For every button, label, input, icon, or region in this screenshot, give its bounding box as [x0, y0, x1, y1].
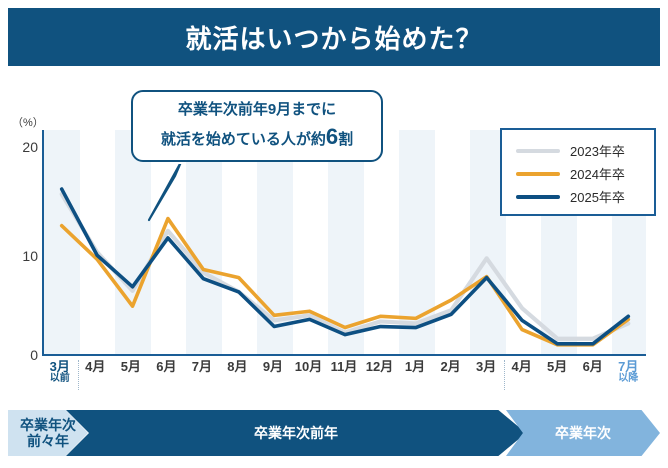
x-axis-tick-16: 7月以降 [608, 360, 648, 384]
x-axis-labels: 3月以前4月5月6月7月8月9月10月11月12月1月2月3月4月5月6月7月以… [0, 360, 668, 400]
chart-page: 就活はいつから始めた？ （%） 20 10 0 3月以前4月5月6月7月8月9月… [0, 0, 668, 468]
phase-bands: 卒業年次 前々年 卒業年次前年 卒業年次 [8, 410, 660, 456]
callout-tail-icon [145, 160, 187, 222]
phase-separator [78, 360, 79, 390]
phase-band-a-line1: 卒業年次 [20, 417, 76, 433]
legend-item-2024: 2024年卒 [502, 162, 654, 185]
legend-item-2025: 2025年卒 [502, 185, 654, 208]
x-axis-tick-0: 3月以前 [40, 360, 80, 384]
x-axis-tick-10: 1月 [395, 360, 435, 374]
x-axis-tick-8: 11月 [324, 360, 364, 374]
x-axis-tick-6: 9月 [253, 360, 293, 374]
callout-line-1: 卒業年次前年9月までに [178, 99, 336, 121]
callout-line-2-pre: 就活を始めている人が約 [161, 131, 326, 148]
legend-label-2025: 2025年卒 [570, 187, 625, 206]
x-axis-tick-13: 4月 [502, 360, 542, 374]
x-axis-tick-4: 7月 [182, 360, 222, 374]
phase-band-graduation-year: 卒業年次 [506, 410, 660, 456]
phase-band-b-label: 卒業年次前年 [254, 425, 338, 441]
phase-band-c-label: 卒業年次 [555, 425, 611, 441]
chart-legend: 2023年卒 2024年卒 2025年卒 [500, 128, 656, 216]
legend-swatch-2025 [516, 195, 560, 199]
callout-highlight-number: 6 [326, 124, 338, 149]
title-banner: 就活はいつから始めた？ [8, 8, 660, 66]
x-axis-tick-3: 6月 [146, 360, 186, 374]
legend-item-2023: 2023年卒 [502, 139, 654, 162]
callout-line-2: 就活を始めている人が約6割 [161, 121, 353, 153]
phase-separator [504, 360, 505, 390]
x-axis-tick-5: 8月 [217, 360, 257, 374]
callout-line-2-post: 割 [338, 131, 353, 148]
x-axis-tick-11: 2月 [431, 360, 471, 374]
callout-bubble: 卒業年次前年9月までに 就活を始めている人が約6割 [131, 90, 383, 162]
phase-band-a-line2: 前々年 [20, 433, 76, 449]
x-axis-tick-1: 4月 [75, 360, 115, 374]
x-axis-tick-14: 5月 [537, 360, 577, 374]
y-axis-labels: 20 10 0 [0, 66, 38, 396]
page-title: 就活はいつから始めた？ [185, 19, 482, 56]
y-tick-10: 10 [4, 248, 38, 264]
phase-band-prior-year: 卒業年次前年 [66, 410, 526, 456]
legend-label-2023: 2023年卒 [570, 141, 625, 160]
legend-swatch-2023 [516, 149, 560, 153]
x-axis-tick-15: 6月 [573, 360, 613, 374]
y-tick-20: 20 [4, 139, 38, 155]
x-axis-tick-9: 12月 [360, 360, 400, 374]
x-axis-tick-12: 3月 [466, 360, 506, 374]
x-axis-tick-2: 5月 [111, 360, 151, 374]
legend-swatch-2024 [516, 172, 560, 176]
legend-label-2024: 2024年卒 [570, 164, 625, 183]
x-axis-tick-7: 10月 [288, 360, 328, 374]
